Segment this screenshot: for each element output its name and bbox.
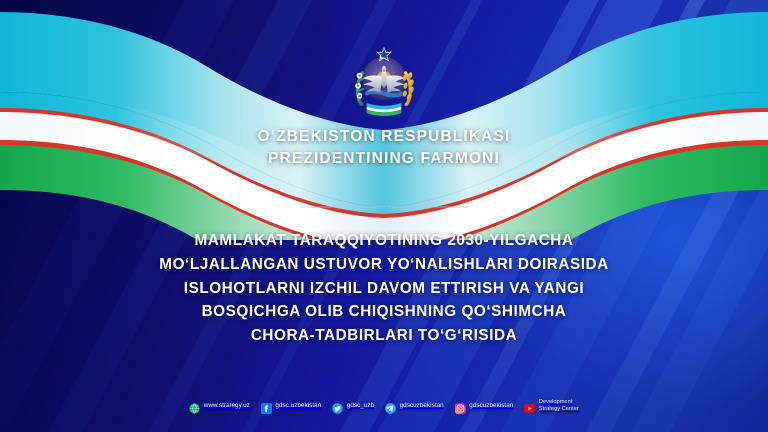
youtube-icon — [524, 401, 535, 412]
youtube-label-line-1: Development — [539, 399, 573, 405]
header-line-2: PREZIDENTINING FARMONI — [0, 148, 768, 170]
social-label-facebook: gdsc.uzbekistan — [275, 402, 321, 410]
social-link-youtube[interactable]: DevelopmentStrategy Center — [524, 399, 578, 413]
social-label-twitter: gdsc_uzb — [347, 402, 374, 410]
instagram-icon — [455, 401, 466, 412]
facebook-icon — [261, 401, 272, 412]
decree-poster: O‘ZBEKISTON RESPUBLIKASI PREZIDENTINING … — [0, 0, 768, 432]
youtube-label-line-2: Strategy Center — [539, 406, 579, 412]
decree-line-5: CHORA-TADBIRLARI TO‘G‘RISIDA — [52, 324, 716, 348]
social-link-telegram[interactable]: gdscuzbekistan — [385, 401, 444, 412]
header-line-1: O‘ZBEKISTON RESPUBLIKASI — [0, 126, 768, 148]
social-links-bar: www.strategy.uz gdsc.uzbekistan gdsc_uzb — [0, 399, 768, 413]
social-label-youtube: DevelopmentStrategy Center — [539, 399, 579, 413]
twitter-icon — [332, 401, 343, 412]
social-label-instagram: gdscuzbekistan — [469, 402, 513, 410]
social-link-website[interactable]: www.strategy.uz — [189, 401, 250, 412]
decree-line-1: MAMLAKAT TARAQQIYOTINING 2030-YILGACHA — [52, 229, 716, 253]
decree-line-4: BOSQICHGA OLIB CHIQISHNING QO‘SHIMCHA — [52, 300, 716, 324]
globe-icon — [189, 401, 200, 412]
social-label-telegram: gdscuzbekistan — [400, 402, 444, 410]
social-label-website: www.strategy.uz — [204, 402, 250, 410]
decree-title: MAMLAKAT TARAQQIYOTINING 2030-YILGACHA M… — [0, 229, 768, 348]
page-title: O‘ZBEKISTON RESPUBLIKASI PREZIDENTINING … — [0, 126, 768, 170]
decree-line-3: ISLOHOTLARNI IZCHIL DAVOM ETTIRISH VA YA… — [52, 277, 716, 301]
social-link-instagram[interactable]: gdscuzbekistan — [455, 401, 514, 412]
decree-line-2: MO‘LJALLANGAN USTUVOR YO‘NALISHLARI DOIR… — [52, 253, 716, 277]
social-link-twitter[interactable]: gdsc_uzb — [332, 401, 374, 412]
social-link-facebook[interactable]: gdsc.uzbekistan — [261, 401, 321, 412]
uzbekistan-flag-ribbon — [0, 0, 768, 240]
telegram-icon — [385, 401, 396, 412]
